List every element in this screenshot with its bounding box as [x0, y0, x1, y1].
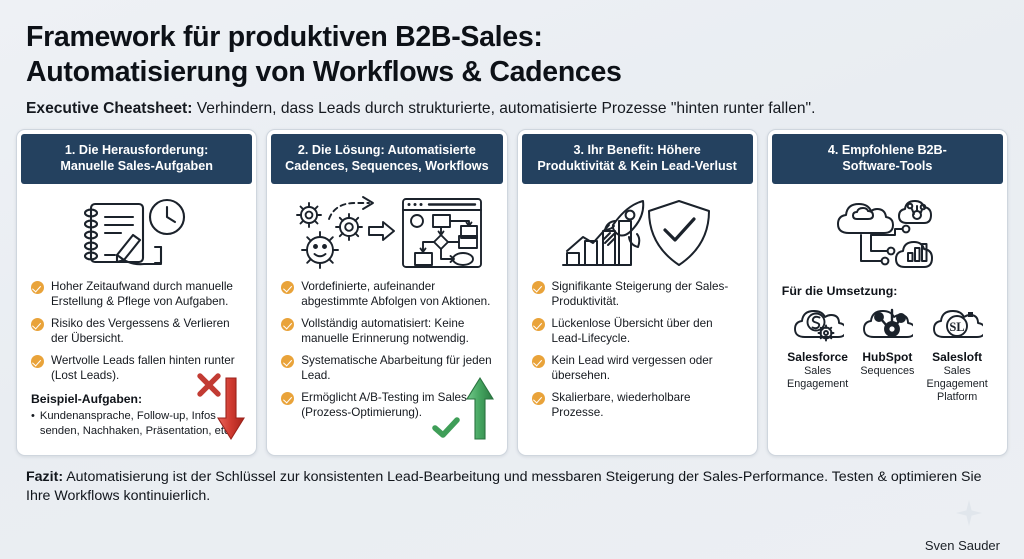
title-line-2: Automatisierung von Workflows & Cadences — [26, 55, 998, 90]
page-header: Framework für produktiven B2B-Sales: Aut… — [0, 0, 1024, 119]
page-footer: Fazit: Automatisierung ist der Schlüssel… — [0, 456, 1024, 506]
card-benefit-header: 3. Ihr Benefit: Höhere Produktivität & K… — [522, 134, 753, 184]
bullet-text: Risiko des Vergessens & Verlieren der Üb… — [51, 316, 242, 346]
subtitle-text: Verhindern, dass Leads durch strukturier… — [192, 100, 815, 117]
card-challenge-header: 1. Die Herausforderung: Manuelle Sales-A… — [21, 134, 252, 184]
card-solution-header: 2. Die Lösung: Automatisierte Cadences, … — [271, 134, 502, 184]
tool-hubspot[interactable]: HubSpot Sequences — [854, 303, 922, 405]
tool-list: Salesforce Sales Engagement — [782, 303, 993, 405]
card-row: 1. Die Herausforderung: Manuelle Sales-A… — [0, 119, 1024, 456]
list-item: Systematische Abarbeitung für jeden Lead… — [281, 353, 492, 383]
svg-text:SL: SL — [949, 320, 964, 334]
red-down-arrow-icon — [216, 376, 246, 447]
card-challenge-body: Hoher Zeitaufwand durch manuelle Erstell… — [21, 184, 252, 451]
tool-salesforce[interactable]: Salesforce Sales Engagement — [784, 303, 852, 405]
list-item: Signifikante Steigerung der Sales-Produk… — [532, 279, 743, 309]
list-item: Vollständig automatisiert: Keine manuell… — [281, 316, 492, 346]
check-circle-icon — [31, 355, 44, 368]
card-solution-bullets: Vordefinierte, aufeinander abgestimmte A… — [281, 279, 492, 428]
card-tools-header-line2: Software-Tools — [778, 158, 997, 175]
tool-description: Sales Engagement Platform — [923, 365, 991, 405]
check-circle-icon — [31, 318, 44, 331]
bullet-text: Kein Lead wird vergessen oder übersehen. — [552, 353, 743, 383]
title-line-1: Framework für produktiven B2B-Sales: — [26, 20, 998, 55]
card-challenge[interactable]: 1. Die Herausforderung: Manuelle Sales-A… — [16, 129, 257, 456]
check-circle-icon — [281, 281, 294, 294]
bullet-text: Vordefinierte, aufeinander abgestimmte A… — [301, 279, 492, 309]
bullet-text: Skalierbare, wiederholbare Prozesse. — [552, 390, 743, 420]
example-tasks-item: • Kundenansprache, Follow-up, Infos send… — [31, 409, 242, 438]
list-item: Kein Lead wird vergessen oder übersehen. — [532, 353, 743, 383]
hubspot-sprocket-icon — [854, 303, 922, 349]
gears-flowchart-icon — [281, 190, 492, 276]
sparkle-icon — [956, 500, 982, 531]
card-benefit-header-line2: Produktivität & Kein Lead-Verlust — [528, 158, 747, 175]
check-circle-icon — [281, 355, 294, 368]
list-item: Hoher Zeitaufwand durch manuelle Erstell… — [31, 279, 242, 309]
tool-salesloft[interactable]: SL Salesloft Sales Engagement Platform — [923, 303, 991, 405]
card-benefit[interactable]: 3. Ihr Benefit: Höhere Produktivität & K… — [517, 129, 758, 456]
card-tools-header-line1: 4. Empfohlene B2B- — [778, 142, 997, 159]
infographic-page: Framework für produktiven B2B-Sales: Aut… — [0, 0, 1024, 559]
bullet-dot: • — [31, 409, 35, 438]
notepad-pen-clock-icon — [31, 190, 242, 276]
list-item: Lückenlose Übersicht über den Lead-Lifec… — [532, 316, 743, 346]
check-circle-icon — [281, 392, 294, 405]
card-benefit-header-line1: 3. Ihr Benefit: Höhere — [528, 142, 747, 159]
card-solution[interactable]: 2. Die Lösung: Automatisierte Cadences, … — [266, 129, 507, 456]
list-item: Risiko des Vergessens & Verlieren der Üb… — [31, 316, 242, 346]
salesloft-cloud-icon: SL — [923, 303, 991, 349]
conclusion-label: Fazit: — [26, 469, 63, 485]
card-tools-header: 4. Empfohlene B2B- Software-Tools — [772, 134, 1003, 184]
card-benefit-bullets: Signifikante Steigerung der Sales-Produk… — [532, 279, 743, 428]
salesforce-cloud-icon — [784, 303, 852, 349]
tool-name: Salesforce — [784, 350, 852, 364]
tool-name: Salesloft — [923, 350, 991, 364]
card-challenge-header-line1: 1. Die Herausforderung: — [27, 142, 246, 159]
card-solution-body: Vordefinierte, aufeinander abgestimmte A… — [271, 184, 502, 451]
card-benefit-body: Signifikante Steigerung der Sales-Produk… — [522, 184, 753, 451]
green-check-icon — [431, 416, 461, 445]
list-item: Skalierbare, wiederholbare Prozesse. — [532, 390, 743, 420]
page-title: Framework für produktiven B2B-Sales: Aut… — [26, 20, 998, 90]
cloud-network-icon — [782, 190, 993, 276]
tool-description: Sales Engagement — [784, 365, 852, 392]
subtitle-label: Executive Cheatsheet: — [26, 100, 192, 117]
card-tools[interactable]: 4. Empfohlene B2B- Software-Tools — [767, 129, 1008, 456]
card-challenge-header-line2: Manuelle Sales-Aufgaben — [27, 158, 246, 175]
green-up-arrow-icon — [465, 376, 495, 447]
tool-name: HubSpot — [854, 350, 922, 364]
list-item: Vordefinierte, aufeinander abgestimmte A… — [281, 279, 492, 309]
card-solution-header-line1: 2. Die Lösung: Automatisierte — [277, 142, 496, 159]
list-item: Ermöglicht A/B-Testing im Sales (Prozess… — [281, 390, 492, 420]
conclusion-text: Fazit: Automatisierung ist der Schlüssel… — [26, 468, 998, 506]
bullet-text: Lückenlose Übersicht über den Lead-Lifec… — [552, 316, 743, 346]
bullet-text: Signifikante Steigerung der Sales-Produk… — [552, 279, 743, 309]
rocket-bar-chart-shield-icon — [532, 190, 743, 276]
implementation-heading: Für die Umsetzung: — [782, 284, 993, 298]
card-tools-body: Für die Umsetzung: — [772, 184, 1003, 451]
card-solution-header-line2: Cadences, Sequences, Workflows — [277, 158, 496, 175]
bullet-text: Hoher Zeitaufwand durch manuelle Erstell… — [51, 279, 242, 309]
check-circle-icon — [532, 355, 545, 368]
page-subtitle: Executive Cheatsheet: Verhindern, dass L… — [26, 99, 998, 118]
bullet-text: Vollständig automatisiert: Keine manuell… — [301, 316, 492, 346]
conclusion-body: Automatisierung ist der Schlüssel zur ko… — [26, 469, 982, 504]
author-signature: Sven Sauder — [925, 538, 1000, 553]
example-tasks-text: Kundenansprache, Follow-up, Infos senden… — [40, 409, 242, 438]
check-circle-icon — [31, 281, 44, 294]
check-circle-icon — [532, 318, 545, 331]
check-circle-icon — [532, 392, 545, 405]
check-circle-icon — [281, 318, 294, 331]
tool-description: Sequences — [854, 365, 922, 378]
check-circle-icon — [532, 281, 545, 294]
